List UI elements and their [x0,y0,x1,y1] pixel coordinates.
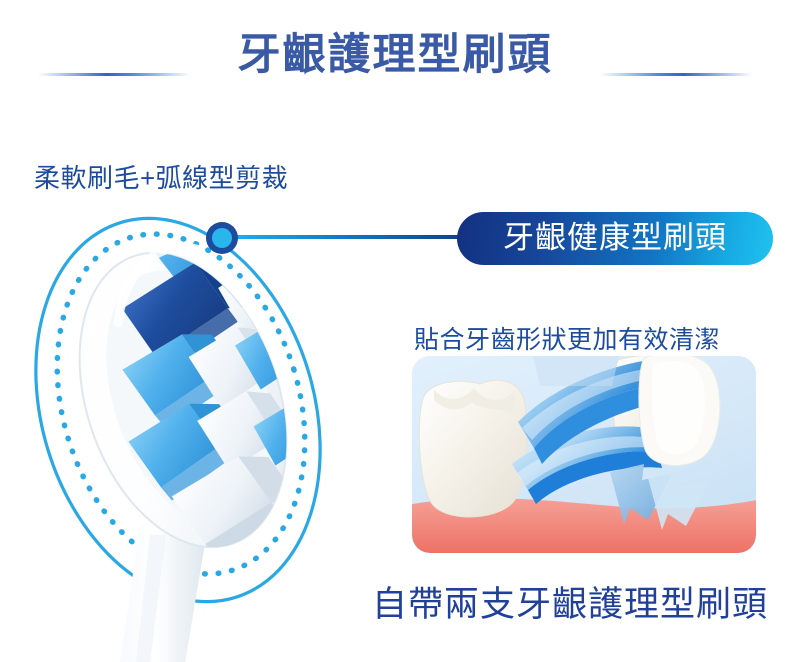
cleaning-illustration-svg [412,356,756,553]
photo-panel-cleaning [412,356,756,553]
callout-connector-line [228,235,466,239]
product-feature-banner: 牙齦護理型刷頭 柔軟刷毛+弧線型剪裁 [0,0,790,662]
panel-top-glow [532,356,620,386]
callout-badge-label: 牙齦健康型刷頭 [503,222,727,253]
callout-badge-gum-health[interactable]: 牙齦健康型刷頭 [457,212,773,265]
caption-includes-two-heads: 自帶兩支牙齦護理型刷頭 [0,576,790,627]
header: 牙齦護理型刷頭 [0,0,790,120]
page-title: 牙齦護理型刷頭 [0,32,790,79]
caption-soft-bristles: 柔軟刷毛+弧線型剪裁 [34,158,288,195]
caption-fits-teeth-shape: 貼合牙齒形狀更加有效清潔 [414,320,720,356]
callout-anchor-dot [212,228,232,248]
